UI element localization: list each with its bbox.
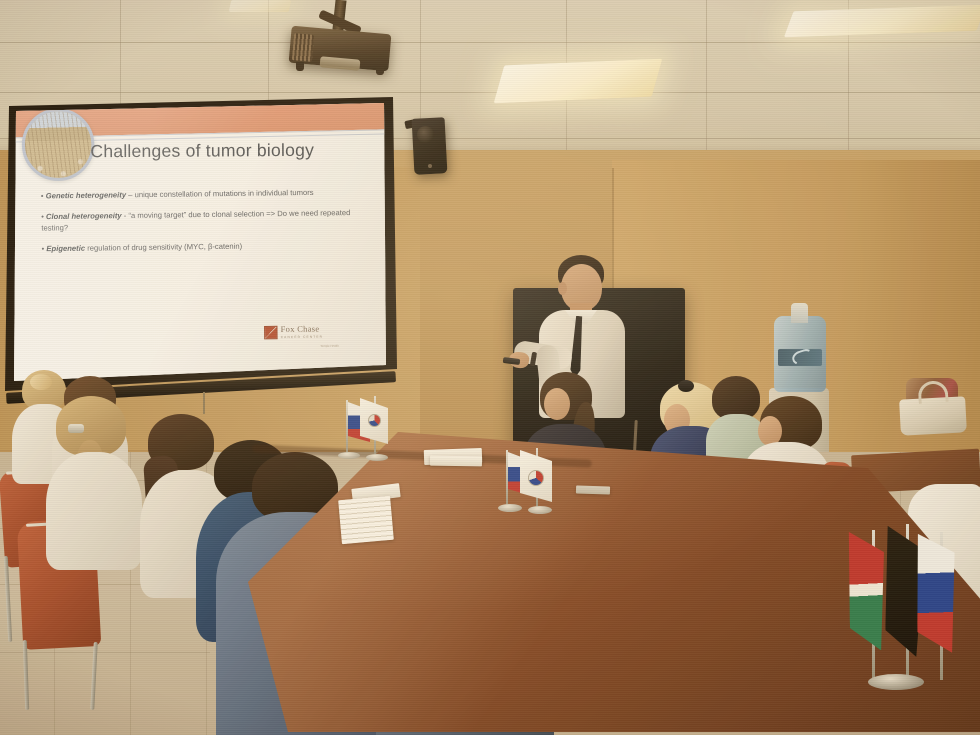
slide-title: Challenges of tumor biology [90,140,380,162]
ceiling-light-panel-1 [494,59,663,104]
ceiling-light-panel-3 [229,0,292,12]
presentation-slide: Challenges of tumor biology • Genetic he… [14,103,386,381]
bullet-rest-1: – unique constellation of mutations in i… [126,188,314,200]
conference-room-photo: Challenges of tumor biology • Genetic he… [0,0,980,735]
bullet-lead-2: Clonal heterogeneity [46,211,122,221]
university-emblem-icon [368,414,381,427]
university-emblem-icon [528,470,544,486]
paper-stack [338,496,394,544]
fox-chase-subtitle: CANCER CENTER [281,335,323,340]
screen-pull-cord [203,392,205,414]
bullet-marker-1: • [41,191,44,200]
bullet-lead-1: Genetic heterogeneity [46,190,126,200]
hair-clip [68,424,84,433]
slide-bullet-list: • Genetic heterogeneity – unique constel… [41,187,375,265]
bullet-rest-3: regulation of drug sensitivity (MYC, β-c… [85,241,242,252]
document-sheet [430,456,482,467]
fox-chase-mark-icon [264,326,278,340]
fox-chase-tagline: Temple Health [320,344,339,348]
document-sheet [576,485,610,494]
slide-bullet-1: • Genetic heterogeneity – unique constel… [41,187,374,203]
hair-accessory [678,380,694,392]
histology-micrograph-icon [21,108,95,182]
bullet-marker-3: • [42,244,45,253]
bullet-lead-3: Epigenetic [46,243,85,253]
slide-bullet-2: • Clonal heterogeneity - “a moving targe… [41,208,375,235]
fox-chase-logo: Fox Chase CANCER CENTER [264,325,374,340]
bullet-marker-2: • [41,212,44,221]
slide-bullet-3: • Epigenetic regulation of drug sensitiv… [42,239,375,255]
fox-chase-name: Fox Chase [281,325,323,334]
projection-screen: Challenges of tumor biology • Genetic he… [14,103,386,381]
